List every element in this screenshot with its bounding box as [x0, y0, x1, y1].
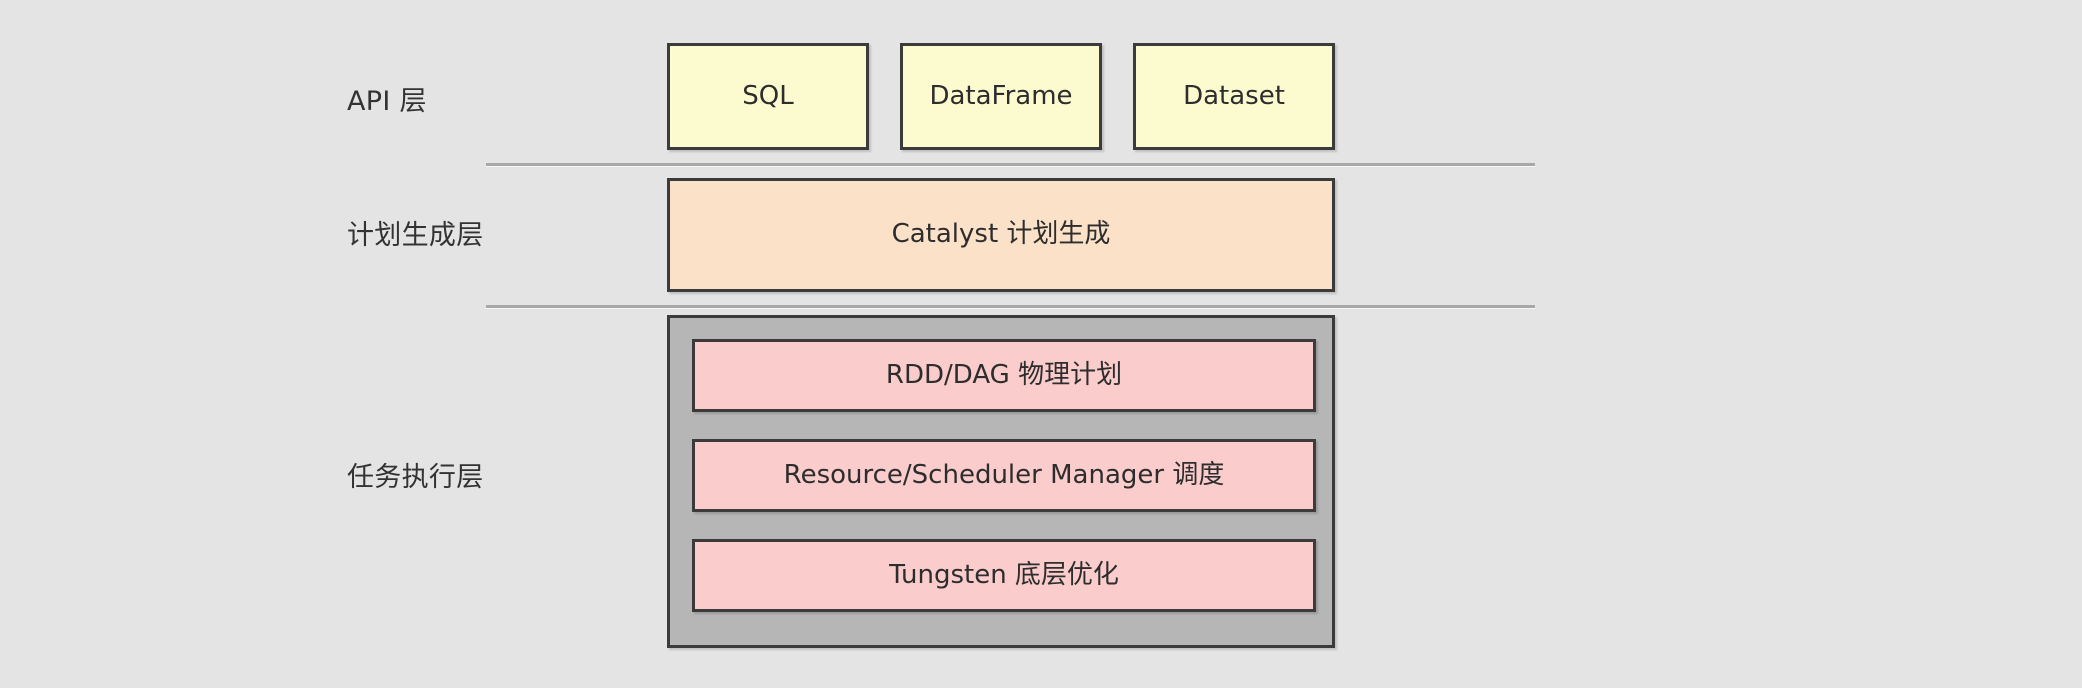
exec-box-tungsten: Tungsten 底层优化: [692, 539, 1316, 612]
api-box-dataframe: DataFrame: [900, 43, 1102, 150]
layer-label-exec: 任务执行层: [347, 464, 484, 491]
layer-label-plan: 计划生成层: [347, 222, 484, 249]
execution-layer-container: RDD/DAG 物理计划 Resource/Scheduler Manager …: [667, 315, 1335, 648]
api-box-dataset: Dataset: [1133, 43, 1335, 150]
api-box-sql: SQL: [667, 43, 869, 150]
architecture-diagram: API 层 计划生成层 任务执行层 SQL DataFrame Dataset …: [0, 0, 2082, 688]
plan-box-catalyst: Catalyst 计划生成: [667, 178, 1335, 292]
exec-box-rdd-dag: RDD/DAG 物理计划: [692, 339, 1316, 412]
layer-separator-top: [486, 163, 1535, 166]
layer-separator-bottom: [486, 305, 1535, 308]
layer-label-api: API 层: [347, 88, 427, 115]
exec-box-resource-scheduler-manager: Resource/Scheduler Manager 调度: [692, 439, 1316, 512]
